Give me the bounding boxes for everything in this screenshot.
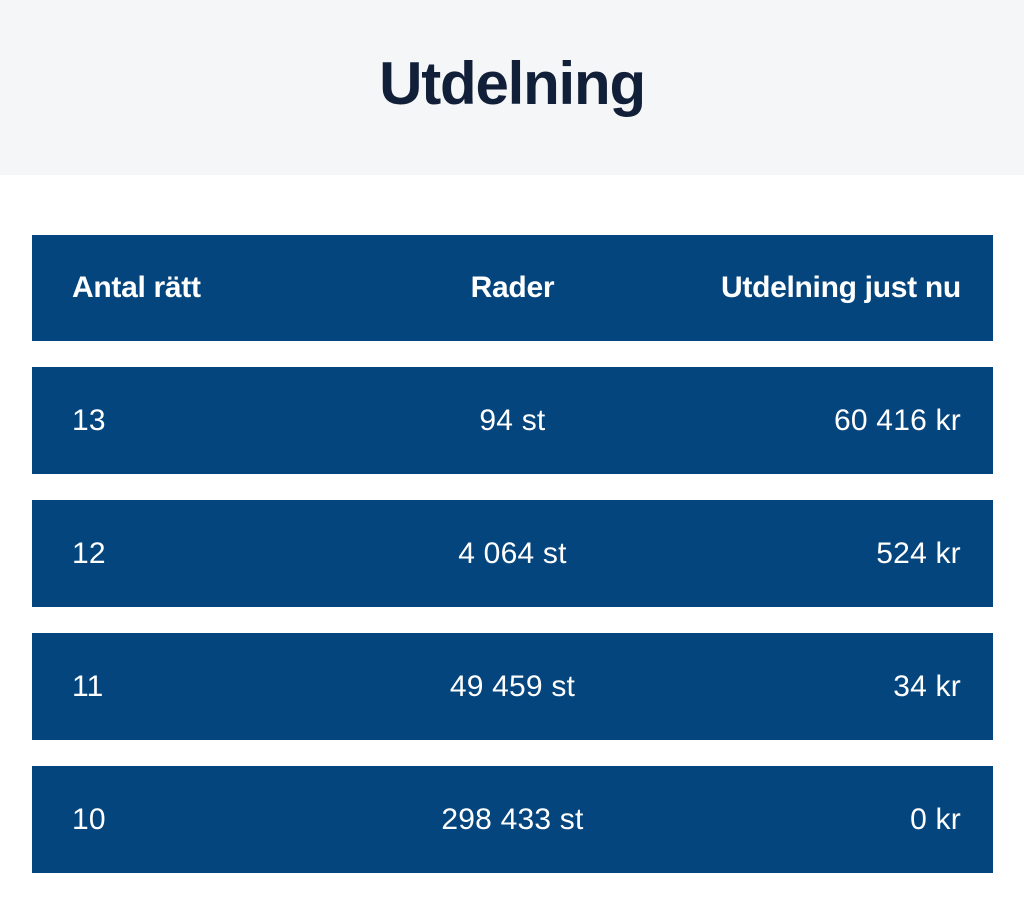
cell-rader: 4 064 st	[352, 537, 672, 571]
page-header: Utdelning	[0, 0, 1024, 175]
cell-antal-ratt: 12	[32, 537, 352, 571]
column-header-antal-ratt: Antal rätt	[32, 271, 352, 305]
cell-rader: 298 433 st	[352, 803, 672, 837]
cell-antal-ratt: 13	[32, 404, 352, 438]
table-row: 13 94 st 60 416 kr	[32, 367, 993, 474]
payout-table-wrapper: Antal rätt Rader Utdelning just nu 13 94…	[0, 175, 1024, 873]
cell-utdelning: 34 kr	[673, 670, 993, 704]
column-header-rader: Rader	[352, 271, 672, 305]
cell-rader: 94 st	[352, 404, 672, 438]
table-row: 10 298 433 st 0 kr	[32, 766, 993, 873]
page-title: Utdelning	[379, 54, 645, 114]
cell-utdelning: 60 416 kr	[673, 404, 993, 438]
payout-page: Utdelning Antal rätt Rader Utdelning jus…	[0, 0, 1024, 904]
table-row: 12 4 064 st 524 kr	[32, 500, 993, 607]
payout-table: Antal rätt Rader Utdelning just nu 13 94…	[32, 235, 993, 873]
column-header-utdelning-just-nu: Utdelning just nu	[673, 271, 993, 305]
cell-rader: 49 459 st	[352, 670, 672, 704]
cell-antal-ratt: 10	[32, 803, 352, 837]
cell-utdelning: 0 kr	[673, 803, 993, 837]
cell-antal-ratt: 11	[32, 670, 352, 704]
cell-utdelning: 524 kr	[673, 537, 993, 571]
table-row: 11 49 459 st 34 kr	[32, 633, 993, 740]
table-header-row: Antal rätt Rader Utdelning just nu	[32, 235, 993, 341]
